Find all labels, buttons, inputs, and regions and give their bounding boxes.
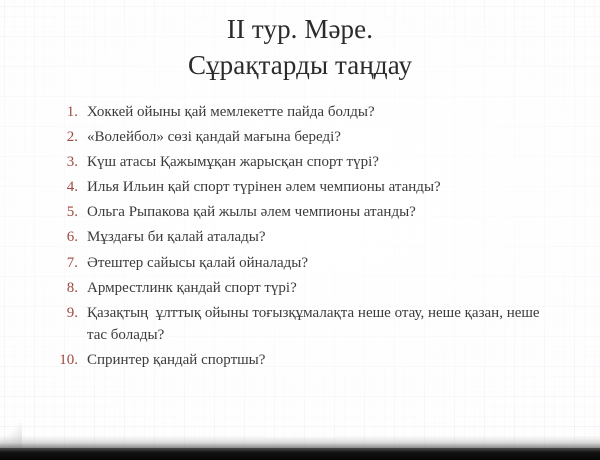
list-item-text: Мұздағы би қалай аталады? bbox=[78, 226, 600, 249]
presentation-slide: II тур. Мәре. Сұрақтарды таңдау 1. Хокке… bbox=[0, 0, 600, 460]
list-item: 8. Армрестлинк қандай спорт түрі? bbox=[0, 277, 600, 300]
list-item-number: 3. bbox=[0, 151, 78, 174]
list-item-text: Илья Ильин қай спорт түрінен әлем чемпио… bbox=[78, 176, 600, 199]
list-item-number: 7. bbox=[0, 252, 78, 275]
list-item-number: 2. bbox=[0, 126, 78, 149]
list-item-number: 8. bbox=[0, 277, 78, 300]
list-item-text: Әтештер сайысы қалай ойналады? bbox=[78, 252, 600, 275]
list-item-number: 5. bbox=[0, 201, 78, 224]
list-item-text: Қазақтың ұлттық ойыны тоғызқұмалақта неш… bbox=[78, 302, 600, 347]
list-item-text: Армрестлинк қандай спорт түрі? bbox=[78, 277, 600, 300]
list-item: 7. Әтештер сайысы қалай ойналады? bbox=[0, 252, 600, 275]
list-item-number: 9. bbox=[0, 302, 78, 325]
list-item-number: 1. bbox=[0, 101, 78, 124]
list-item-number: 10. bbox=[0, 349, 78, 372]
list-item: 9. Қазақтың ұлттық ойыны тоғызқұмалақта … bbox=[0, 302, 600, 347]
list-item: 2. «Волейбол» сөзі қандай мағына береді? bbox=[0, 126, 600, 149]
list-item: 10. Спринтер қандай спортшы? bbox=[0, 349, 600, 372]
list-item-text: Хоккей ойыны қай мемлекетте пайда болды? bbox=[78, 101, 600, 124]
list-item: 5. Ольга Рыпакова қай жылы әлем чемпионы… bbox=[0, 201, 600, 224]
list-item: 6. Мұздағы би қалай аталады? bbox=[0, 226, 600, 249]
footer-bar bbox=[0, 448, 600, 460]
question-list: 1. Хоккей ойыны қай мемлекетте пайда бол… bbox=[0, 101, 600, 374]
list-item-text: Күш атасы Қажымұқан жарысқан спорт түрі? bbox=[78, 151, 600, 174]
list-item: 4. Илья Ильин қай спорт түрінен әлем чем… bbox=[0, 176, 600, 199]
footer-gradient bbox=[0, 436, 600, 448]
list-item-text: «Волейбол» сөзі қандай мағына береді? bbox=[78, 126, 600, 149]
list-item-text: Ольга Рыпакова қай жылы әлем чемпионы ат… bbox=[78, 201, 600, 224]
list-item-number: 6. bbox=[0, 226, 78, 249]
list-item-text: Спринтер қандай спортшы? bbox=[78, 349, 600, 372]
slide-title: II тур. Мәре. Сұрақтарды таңдау bbox=[0, 11, 600, 83]
list-item: 1. Хоккей ойыны қай мемлекетте пайда бол… bbox=[0, 101, 600, 124]
list-item: 3. Күш атасы Қажымұқан жарысқан спорт тү… bbox=[0, 151, 600, 174]
slide-content: II тур. Мәре. Сұрақтарды таңдау 1. Хокке… bbox=[0, 0, 600, 460]
list-item-number: 4. bbox=[0, 176, 78, 199]
